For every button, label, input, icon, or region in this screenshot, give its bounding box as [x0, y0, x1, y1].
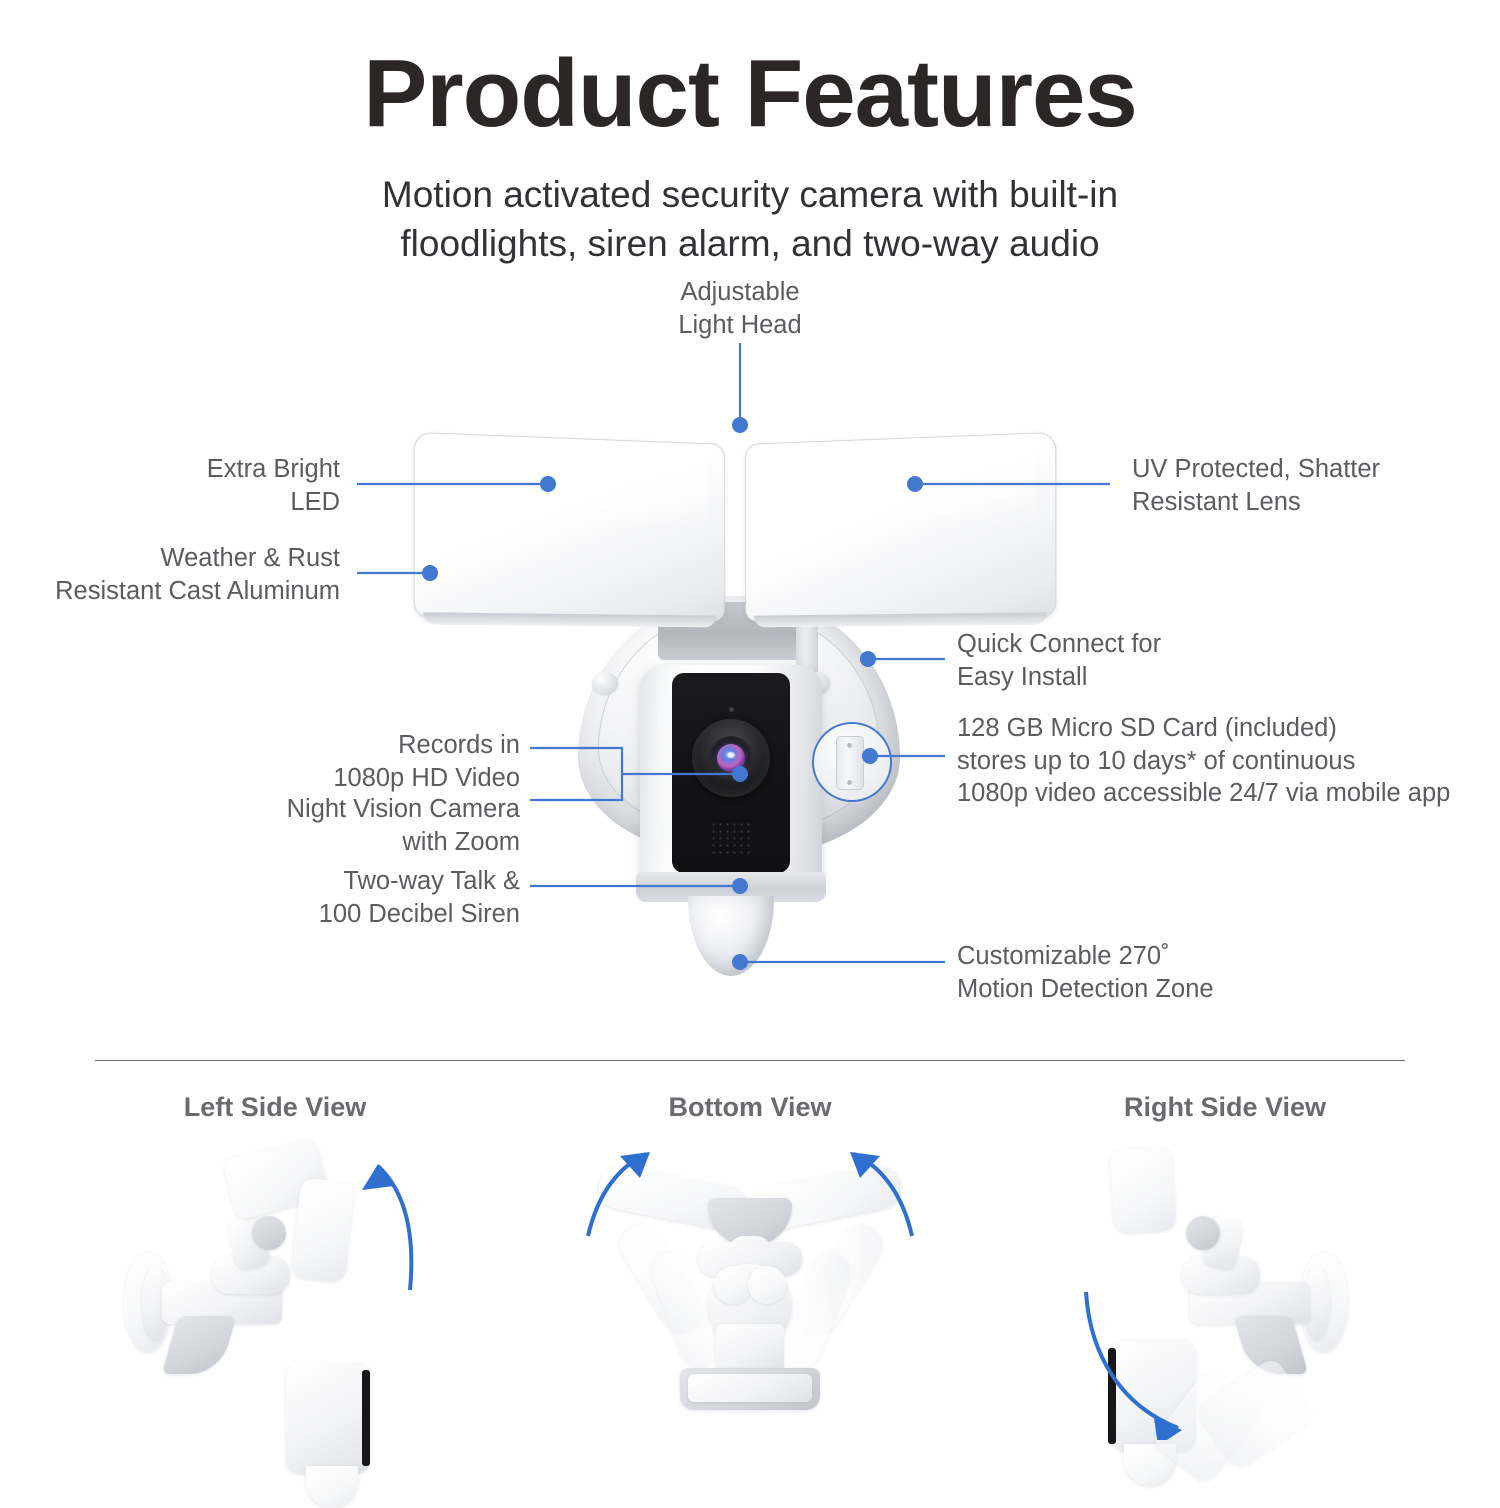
product-art-left-side-view	[110, 1140, 450, 1440]
page-subtitle: Motion activated security camera with bu…	[300, 170, 1200, 268]
sd-card-magnifier-circle	[812, 722, 892, 802]
speaker-grille	[710, 821, 752, 855]
lens-glint	[727, 752, 735, 758]
view-title-right-side: Right Side View	[1055, 1092, 1395, 1123]
callout-motion-detection-zone: Customizable 270˚ Motion Detection Zone	[957, 940, 1357, 1005]
sd-screw-bottom	[847, 780, 852, 785]
rotation-arrow-left-view	[110, 1140, 450, 1440]
rotation-arrows-bottom-view	[580, 1140, 920, 1440]
panel-rim-left	[423, 612, 716, 627]
callout-quick-connect: Quick Connect for Easy Install	[957, 628, 1357, 693]
callout-uv-protected-lens: UV Protected, Shatter Resistant Lens	[1132, 453, 1492, 518]
infographic-page: Product Features Motion activated securi…	[0, 0, 1500, 1500]
floodlight-panel-right	[745, 432, 1056, 622]
product-art-right-side-view	[1050, 1140, 1390, 1440]
callout-micro-sd-card: 128 GB Micro SD Card (included) stores u…	[957, 712, 1477, 810]
camera-lens-iris	[717, 744, 745, 772]
callout-night-vision: Night Vision Camera with Zoom	[230, 793, 520, 858]
panel-gloss-left	[421, 438, 707, 533]
page-title: Product Features	[0, 46, 1500, 142]
product-art-bottom-view	[580, 1140, 920, 1440]
view-title-bottom: Bottom View	[580, 1092, 920, 1123]
view-title-left-side: Left Side View	[105, 1092, 445, 1123]
rotation-arrow-right-view	[1050, 1140, 1390, 1440]
camera-dome-base	[688, 896, 774, 976]
sd-screw-top	[847, 743, 852, 748]
camera-face-panel	[672, 673, 790, 873]
callout-weather-rust-resistant: Weather & Rust Resistant Cast Aluminum	[20, 542, 340, 607]
panel-rim-right	[754, 612, 1047, 627]
panel-gloss-right	[752, 439, 1037, 534]
camera-dome-left-view	[306, 1466, 358, 1508]
camera-lens-ring	[692, 719, 770, 797]
microphone-dot	[729, 707, 734, 712]
callout-two-way-talk-siren: Two-way Talk & 100 Decibel Siren	[230, 865, 520, 930]
camera-lens-inner	[709, 736, 753, 780]
callout-adjustable-light-head: Adjustable Light Head	[600, 276, 880, 341]
callout-records-1080p: Records in 1080p HD Video	[230, 729, 520, 794]
callout-extra-bright-led: Extra Bright LED	[40, 453, 340, 518]
pivot-knob-left	[592, 672, 618, 694]
camera-body	[640, 665, 822, 887]
floodlight-panel-left	[414, 432, 725, 622]
section-divider	[95, 1060, 1405, 1061]
